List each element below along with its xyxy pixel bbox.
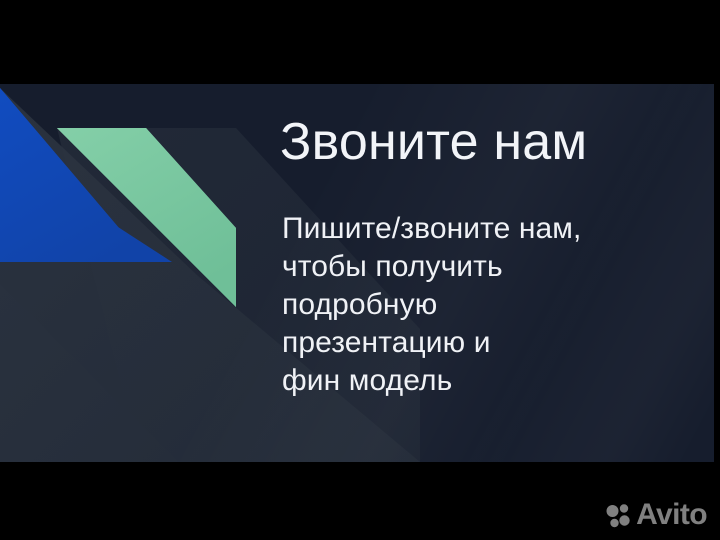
- body-line: презентацию и: [282, 324, 662, 362]
- avito-wordmark: Avito: [636, 500, 707, 530]
- promo-card: Звоните нам Пишите/звоните нам, чтобы по…: [0, 84, 714, 462]
- headline: Звоните нам: [280, 112, 587, 172]
- body-line: подробную: [282, 286, 662, 324]
- avito-watermark: Avito: [605, 500, 707, 530]
- body-line: чтобы получить: [282, 248, 662, 286]
- avito-logo-icon: [605, 502, 631, 528]
- body-line: фин модель: [282, 362, 662, 400]
- body-copy: Пишите/звоните нам, чтобы получить подро…: [282, 210, 662, 400]
- screenshot-root: Звоните нам Пишите/звоните нам, чтобы по…: [0, 0, 720, 540]
- body-line: Пишите/звоните нам,: [282, 210, 662, 248]
